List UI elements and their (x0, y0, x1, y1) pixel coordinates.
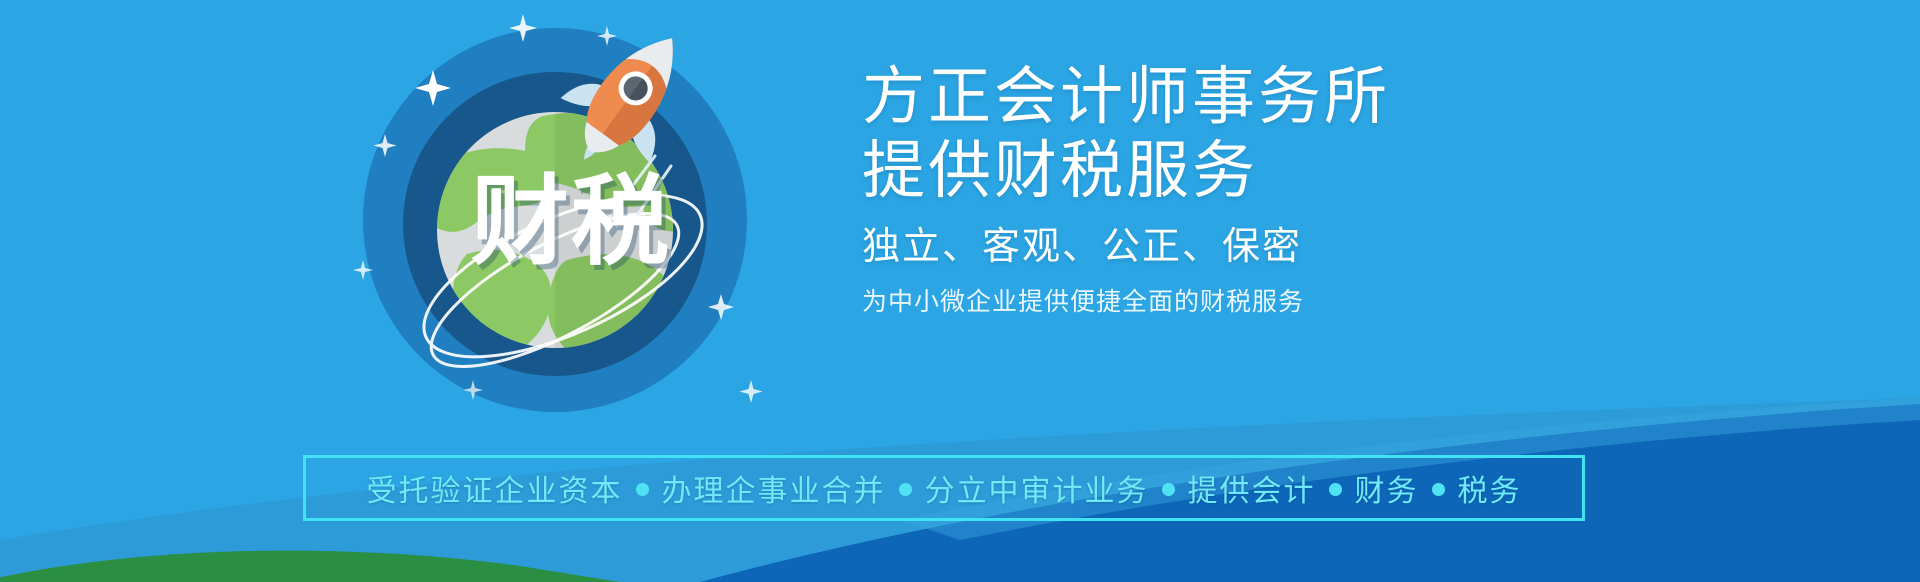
wave-green-shape (0, 551, 620, 582)
services-item: 分立中审计业务 (925, 475, 1149, 508)
headline-line-1: 方正会计师事务所 (862, 62, 1622, 132)
services-list: 受托验证企业资本办理企事业合并分立中审计业务提供会计财务税务 (367, 466, 1522, 510)
promo-banner: 财税 方正会计师事务所 提供财税服务 独立、客观、公正、保密 为中小微企业提供便… (0, 0, 1920, 582)
services-separator-dot (1162, 483, 1175, 496)
services-item: 财务 (1355, 475, 1419, 508)
emblem-wordmark: 财税 (355, 8, 775, 428)
headline-copy-block: 方正会计师事务所 提供财税服务 独立、客观、公正、保密 为中小微企业提供便捷全面… (862, 62, 1622, 322)
services-separator-dot (636, 483, 649, 496)
services-separator-dot (1329, 483, 1342, 496)
services-item: 税务 (1458, 475, 1522, 508)
services-item: 办理企事业合并 (662, 475, 886, 508)
services-item: 受托验证企业资本 (367, 475, 623, 508)
headline-line-2: 提供财税服务 (862, 136, 1622, 206)
services-bar: 受托验证企业资本办理企事业合并分立中审计业务提供会计财务税务 (303, 455, 1585, 521)
services-separator-dot (899, 483, 912, 496)
globe-rocket-emblem: 财税 (355, 8, 775, 428)
headline-line-4: 为中小微企业提供便捷全面的财税服务 (862, 282, 1622, 322)
services-item: 提供会计 (1188, 475, 1316, 508)
headline-line-3: 独立、客观、公正、保密 (862, 220, 1622, 274)
services-separator-dot (1432, 483, 1445, 496)
emblem-wordmark-text: 财税 (471, 173, 671, 271)
